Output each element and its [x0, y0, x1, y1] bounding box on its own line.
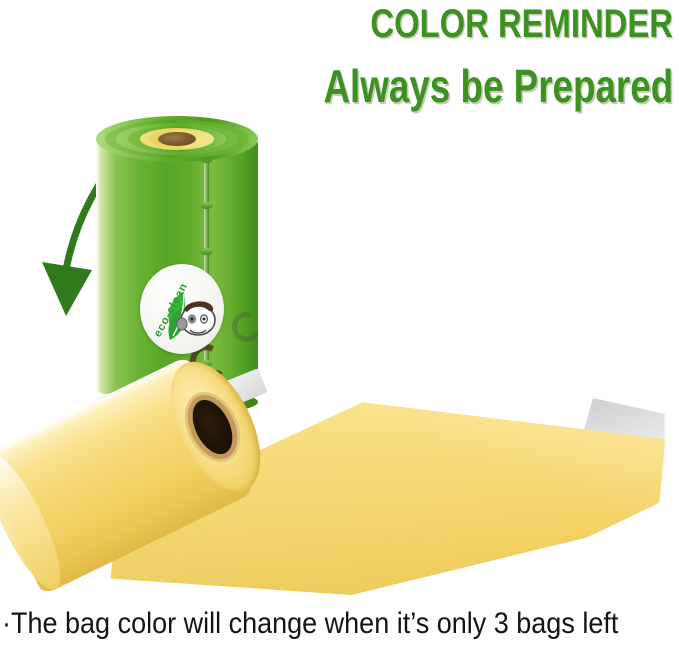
yellow-bag-roll-group	[0, 352, 679, 612]
bottom-caption: ·The bag color will change when it’s onl…	[2, 607, 618, 641]
headline-secondary: Always be Prepared	[323, 62, 673, 110]
headline-primary: COLOR REMINDER	[371, 3, 673, 45]
roll-cardboard-core	[158, 132, 196, 146]
seam-notch	[200, 202, 213, 209]
yellow-roll	[0, 356, 281, 650]
product-image-canvas: COLOR REMINDER Always be Prepared	[0, 0, 679, 651]
green-roll-top-face	[96, 116, 258, 164]
seam-notch	[200, 248, 213, 255]
eco-clean-label: eco-clean	[140, 264, 224, 354]
